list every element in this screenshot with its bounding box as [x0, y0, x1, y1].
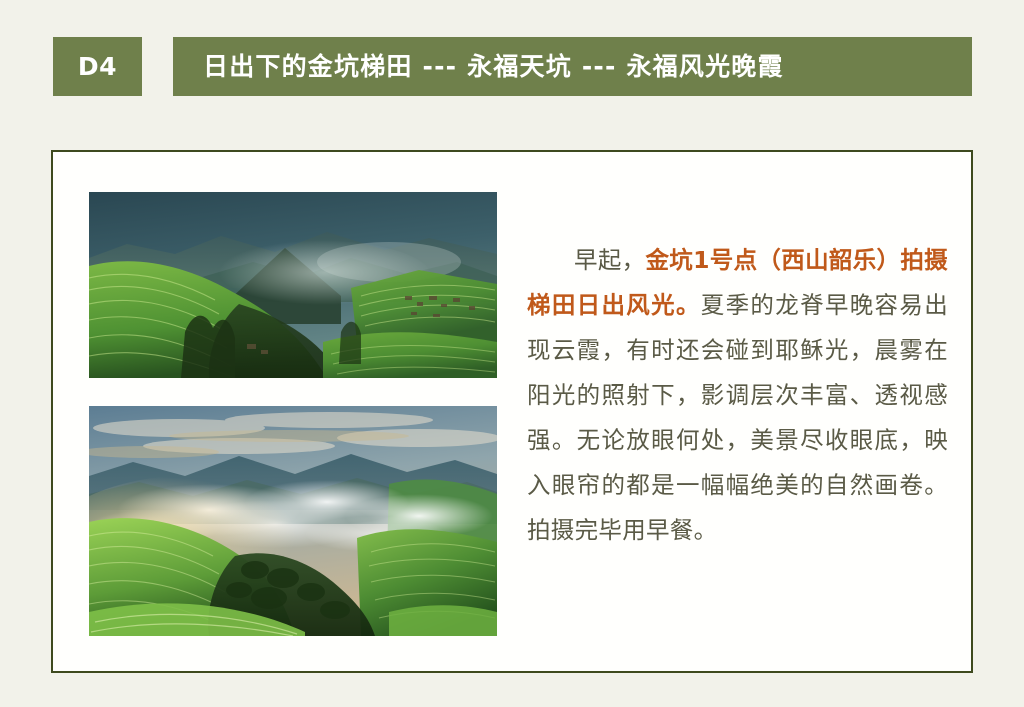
paragraph-lead-plain: 早起， — [574, 246, 645, 274]
paragraph-body: 夏季的龙脊早晚容易出现云霞，有时还会碰到耶稣光，晨雾在阳光的照射下，影调层次丰富… — [527, 291, 948, 544]
yongfu-sunrise-golden-light-photo — [89, 406, 497, 636]
photo-1-artwork — [89, 192, 497, 378]
jinkeng-terraced-fields-sunrise-photo — [89, 192, 497, 378]
title-bar: 日出下的金坑梯田 --- 永福天坑 --- 永福风光晚霞 — [173, 37, 972, 96]
day-badge-label: D4 — [78, 54, 117, 79]
day-badge: D4 — [53, 37, 142, 96]
photo-2-artwork — [89, 406, 497, 636]
slide-canvas: D4 日出下的金坑梯田 --- 永福天坑 --- 永福风光晚霞 — [0, 0, 1024, 707]
content-frame: 早起，金坑1号点（西山韶乐）拍摄梯田日出风光。夏季的龙脊早晚容易出现云霞，有时还… — [51, 150, 973, 673]
page-title: 日出下的金坑梯田 --- 永福天坑 --- 永福风光晚霞 — [203, 54, 784, 79]
description-column: 早起，金坑1号点（西山韶乐）拍摄梯田日出风光。夏季的龙脊早晚容易出现云霞，有时还… — [527, 238, 948, 553]
itinerary-paragraph: 早起，金坑1号点（西山韶乐）拍摄梯田日出风光。夏季的龙脊早晚容易出现云霞，有时还… — [527, 238, 948, 553]
